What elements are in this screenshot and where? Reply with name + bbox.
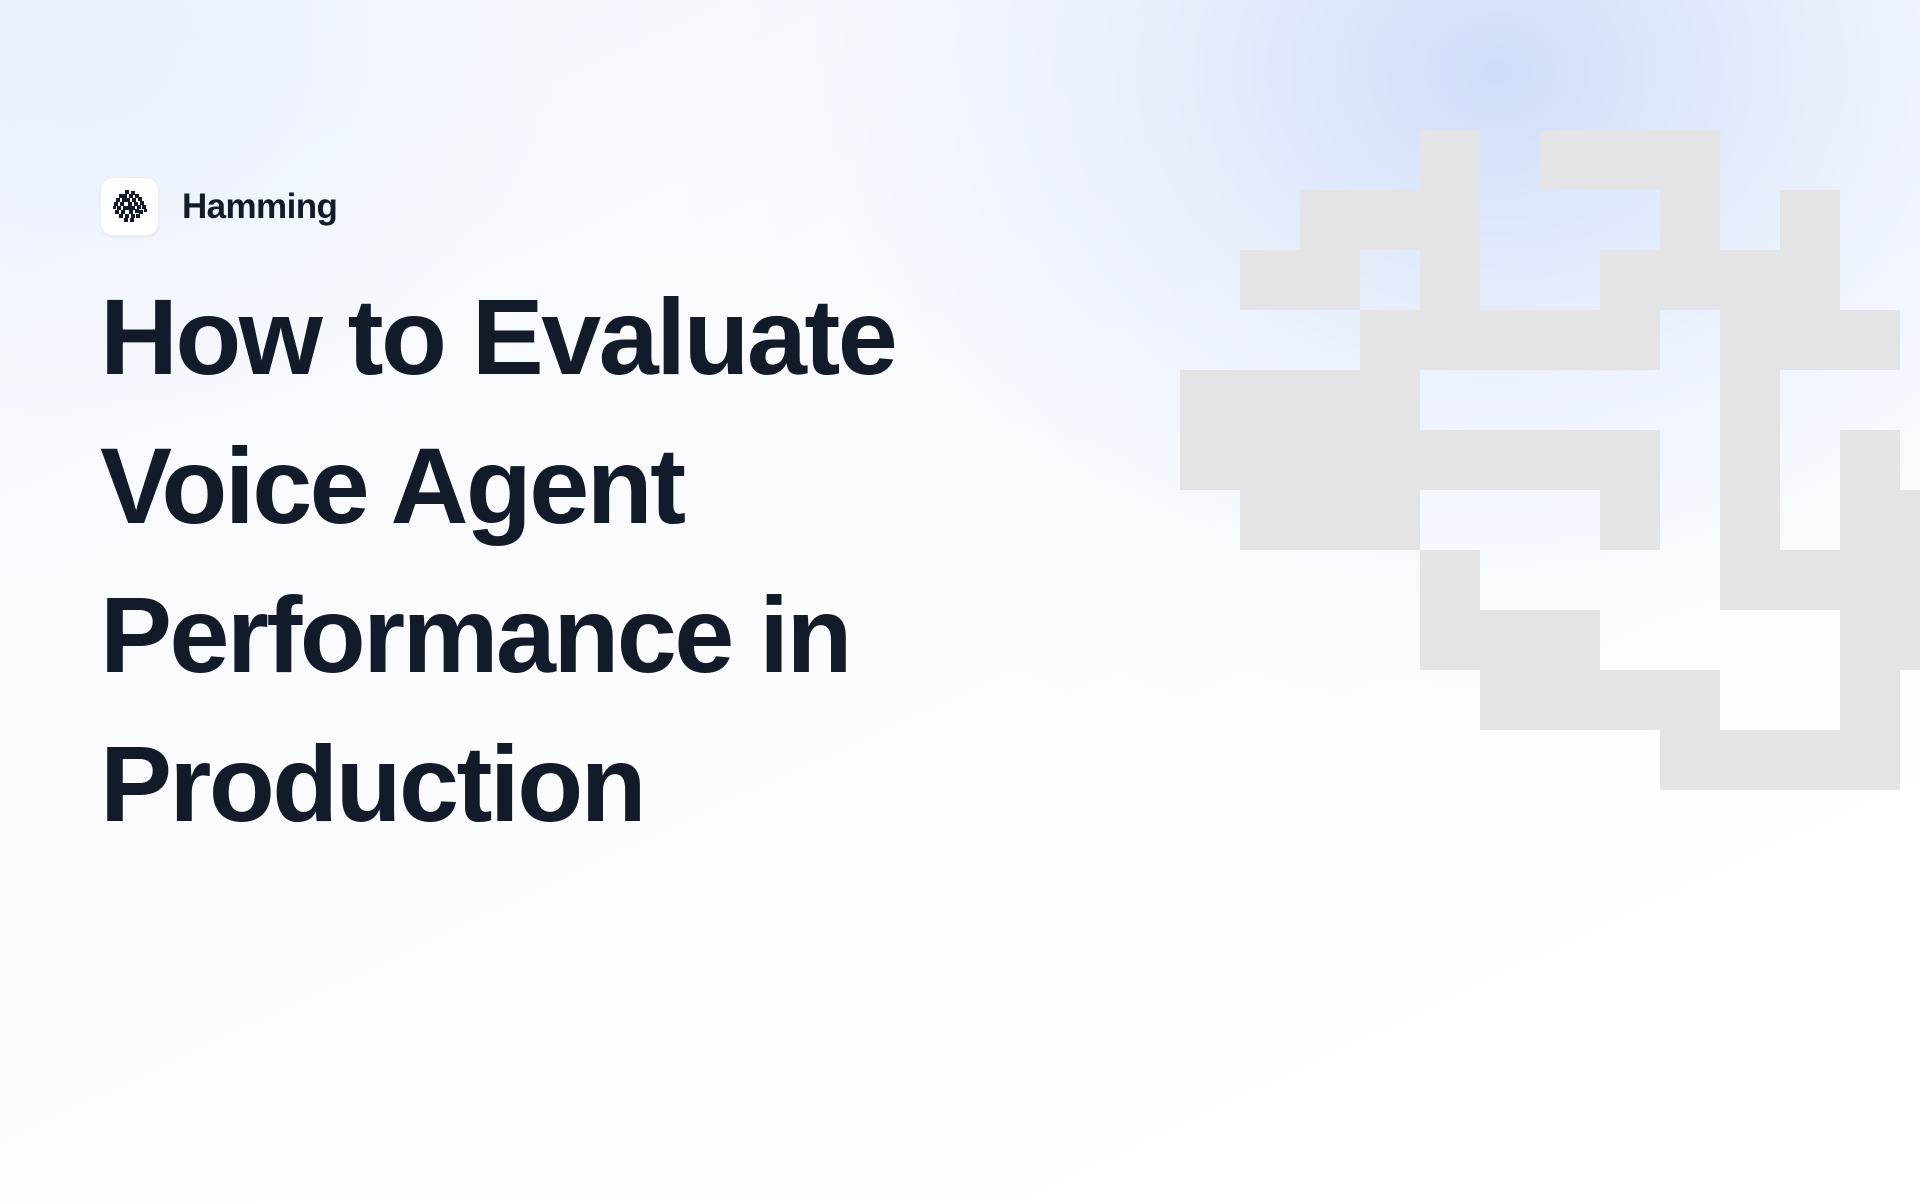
maze-block (1900, 490, 1920, 670)
maze-block (1780, 550, 1900, 610)
maze-block (1420, 550, 1480, 670)
brand-name: Hamming (182, 189, 337, 224)
maze-block (1240, 490, 1420, 550)
page-canvas: Hamming How to Evaluate Voice Agent Perf… (0, 0, 1920, 1201)
maze-block (1240, 250, 1360, 310)
maze-block (1720, 730, 1900, 790)
hamming-logo-icon[interactable] (100, 177, 159, 236)
title-line-1: How to Evaluate (100, 262, 1160, 411)
maze-block (1420, 190, 1480, 250)
maze-block (1480, 430, 1600, 490)
maze-block (1180, 370, 1300, 490)
maze-block (1300, 370, 1420, 430)
title-line-3: Performance in (100, 560, 1160, 709)
maze-block (1840, 610, 1900, 730)
maze-block (1720, 430, 1780, 610)
maze-block (1720, 310, 1780, 430)
maze-block (1420, 250, 1480, 370)
maze-block (1480, 610, 1600, 670)
brand-row[interactable]: Hamming (100, 177, 337, 236)
maze-pattern-decoration (1180, 130, 1920, 1070)
maze-block (1660, 130, 1720, 310)
maze-block (1780, 190, 1840, 370)
maze-block (1600, 250, 1660, 310)
page-title: How to Evaluate Voice Agent Performance … (100, 262, 1160, 858)
title-line-4: Production (100, 709, 1160, 858)
maze-block (1420, 130, 1480, 190)
maze-block (1660, 670, 1720, 790)
maze-block (1540, 130, 1660, 190)
maze-block (1480, 670, 1660, 730)
maze-block (1600, 430, 1660, 550)
maze-block (1360, 310, 1420, 430)
maze-block (1480, 310, 1660, 370)
maze-block (1300, 430, 1480, 490)
maze-block (1840, 310, 1900, 370)
maze-block (1840, 430, 1900, 550)
title-line-2: Voice Agent (100, 411, 1160, 560)
maze-block (1300, 190, 1480, 250)
maze-block (1660, 250, 1780, 310)
